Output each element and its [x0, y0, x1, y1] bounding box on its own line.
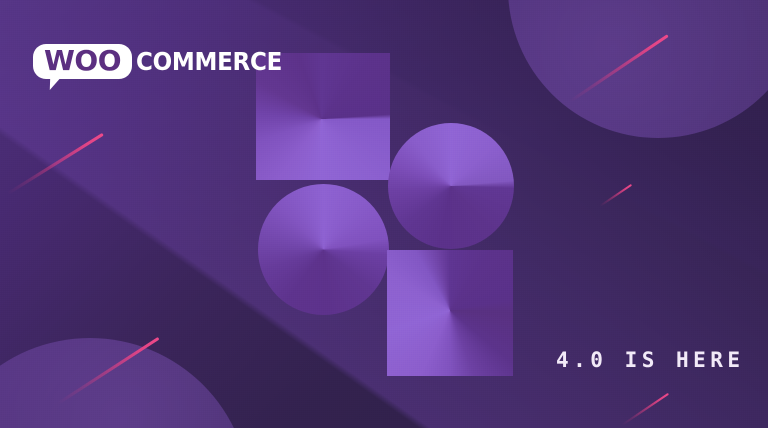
circle-bottom-left [258, 184, 389, 315]
circle-top-right [388, 123, 514, 249]
woocommerce-promo-banner: WOO COMMERCE 4.0 IS HERE [0, 0, 768, 428]
woo-speech-bubble-icon: WOO [33, 44, 132, 79]
woo-bubble-text: WOO [44, 47, 121, 75]
square-bottom-right [387, 250, 513, 376]
version-tagline: 4.0 IS HERE [556, 348, 745, 372]
woocommerce-logo[interactable]: WOO COMMERCE [33, 44, 295, 79]
commerce-wordmark: COMMERCE [136, 47, 282, 76]
